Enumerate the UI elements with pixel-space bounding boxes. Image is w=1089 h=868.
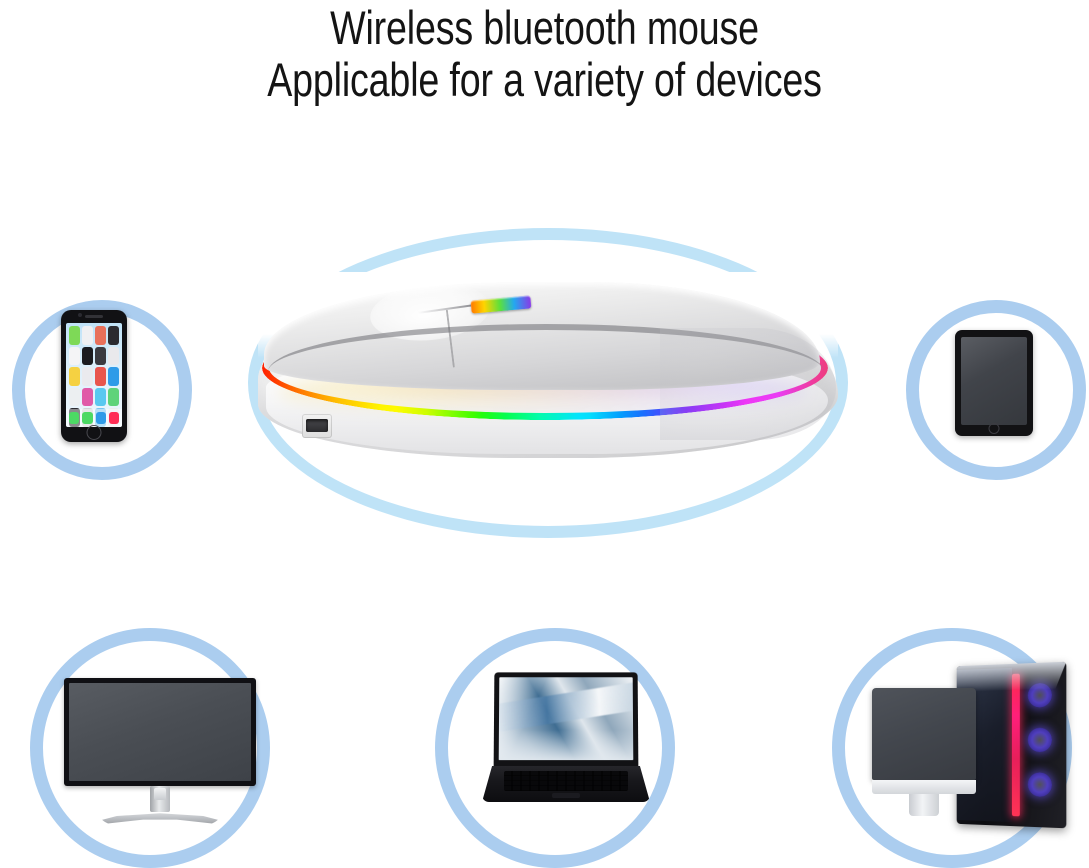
smartphone-device [61,310,127,442]
monitor-stand-neck [150,786,170,812]
phone-app-icon [95,326,106,345]
phone-app-icon [108,347,119,366]
mouse-nose-shading [660,328,836,440]
phone-dock-app-icon [109,412,119,424]
pc-fan-bottom [1028,772,1052,797]
phone-app-icon [69,388,80,407]
pc-monitor [872,688,976,812]
phone-app-icon [69,367,80,386]
phone-home-button [87,425,102,440]
phone-app-icon [82,326,93,345]
headline-block: Wireless bluetooth mouse Applicable for … [0,0,1089,106]
laptop-lid [494,672,639,768]
usb-c-charging-port [302,414,332,438]
tablet-home-button [989,423,1000,434]
phone-app-icon [82,388,93,407]
phone-app-icon [82,347,93,366]
product-marketing-banner: Wireless bluetooth mouse Applicable for … [0,0,1089,866]
phone-app-icon [108,367,119,386]
desktop-pc-device [872,664,1072,834]
laptop-trackpad [552,793,580,798]
phone-app-icon [95,367,106,386]
phone-dock-app-icon [69,412,79,424]
phone-app-icon [108,388,119,407]
phone-app-icon [69,347,80,366]
phone-screen [66,323,122,427]
pc-fan-middle [1028,728,1052,753]
pc-monitor-stand [909,794,939,816]
tablet-device [955,330,1033,436]
laptop-keyboard [504,771,628,791]
headline-line-2: Applicable for a variety of devices [109,54,980,106]
phone-app-icon [69,326,80,345]
desktop-monitor-device [64,678,256,828]
phone-earpiece [85,315,103,318]
phone-dock-app-icon [96,412,106,424]
pc-monitor-chin [872,780,976,794]
monitor-bezel [64,678,256,786]
tablet-screen [961,337,1027,425]
pc-rgb-led-strip [1012,674,1020,817]
laptop-screen [499,677,634,760]
phone-dock-app-icon [82,412,92,424]
phone-front-camera-icon [78,313,82,317]
phone-app-icon [95,347,106,366]
pc-monitor-screen [872,688,976,780]
phone-app-icon [108,326,119,345]
phone-app-icon [82,367,93,386]
monitor-screen [69,683,251,781]
laptop-device [482,672,650,812]
wireless-mouse-product-image [258,272,838,502]
phone-app-icon [95,388,106,407]
headline-line-1: Wireless bluetooth mouse [109,2,980,54]
